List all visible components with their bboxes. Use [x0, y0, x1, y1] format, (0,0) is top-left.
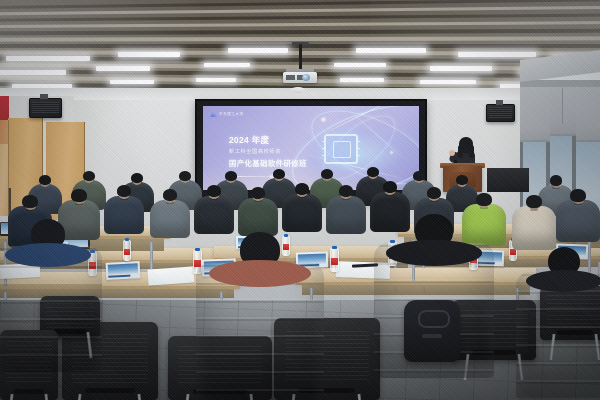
attendee-neck [530, 208, 538, 211]
projector-lens [302, 74, 310, 81]
attendee-jacket [194, 196, 234, 234]
attendee-hair [413, 171, 425, 181]
attendee [150, 190, 190, 238]
attendee-jacket [150, 200, 190, 238]
attendee-hair [22, 195, 37, 208]
attendee-neck [75, 202, 83, 205]
attendee-collar [209, 260, 311, 287]
attendee-hair [339, 185, 353, 197]
av-equipment-cabinet [487, 168, 529, 192]
chair-back-handle [85, 388, 135, 393]
attendee [194, 186, 234, 234]
slide-sparkle-1 [320, 116, 327, 123]
attendee-hair [273, 169, 285, 179]
attendee-jacket [282, 194, 322, 232]
attendee-neck [166, 201, 174, 204]
attendee-jacket [512, 206, 556, 250]
wall-speaker-right [486, 104, 515, 122]
attendee-hair [251, 187, 265, 199]
attendee-hair [476, 193, 491, 206]
attendee-hair [321, 169, 333, 179]
attendee-hair [456, 175, 468, 185]
navy-puffer-attendee [0, 222, 102, 372]
bottle-label [124, 249, 130, 255]
attendee [104, 186, 144, 234]
slide-sparkle-2 [389, 150, 394, 155]
ceiling-light-wash-left [0, 0, 200, 96]
rust-puffer-attendee [196, 236, 324, 400]
bottle-label [331, 258, 338, 265]
attendee [282, 184, 322, 232]
presenter-hair [459, 137, 473, 153]
attendee-hair [39, 175, 51, 185]
attendee-hair [367, 167, 379, 177]
attendee [326, 186, 366, 234]
bottle-cap [125, 238, 129, 241]
attendee-hair [117, 185, 131, 197]
attendee-jacket [104, 196, 144, 234]
attendee-collar [5, 243, 91, 267]
slide-year: 2024 年度 [229, 134, 333, 146]
bottle-cap [332, 246, 336, 249]
ceiling-led [204, 63, 250, 67]
attendee-neck [430, 199, 438, 202]
window-blind-2[interactable] [550, 84, 576, 136]
brochure[interactable] [106, 261, 141, 280]
presenter-hand [449, 150, 455, 156]
slide-logo-text: 华东理工大学 [219, 112, 244, 117]
logo-mark-icon [210, 111, 217, 118]
attendee-hair [383, 181, 397, 193]
attendee [556, 190, 600, 242]
attendee-neck [254, 199, 262, 202]
backpack [404, 300, 460, 362]
slide-logo: 华东理工大学 [210, 111, 244, 118]
attendee-jacket [238, 198, 278, 236]
brochure-title-bar [108, 275, 131, 278]
attendee-neck [298, 195, 306, 198]
speaker-mount-right [496, 100, 503, 105]
attendee-hair [207, 185, 221, 197]
blind-pull-cord[interactable] [562, 88, 563, 124]
attendee-hair [225, 171, 237, 181]
attendee-hair [71, 189, 86, 202]
water-bottle[interactable] [123, 240, 131, 261]
slide-main-title: 国产化基础软件研修班 [229, 158, 333, 169]
brochure-cover-image [108, 264, 138, 275]
attendee [512, 196, 556, 250]
chair-back-handle [14, 389, 44, 394]
attendee [238, 188, 278, 236]
window-blind-1[interactable] [520, 86, 550, 142]
attendee-hair [83, 171, 95, 181]
ceiling-led [228, 48, 288, 53]
attendee-neck [210, 197, 218, 200]
smoke-detector-icon [291, 87, 305, 93]
attendee-hair [295, 183, 309, 195]
ceiling-led [196, 78, 236, 82]
right-dark-attendee [516, 250, 600, 400]
blind-roller [520, 80, 600, 87]
slide-subtitle: 新工科全国高校师资 [229, 148, 333, 155]
attendee-neck [26, 208, 34, 211]
attendee-hair [570, 189, 585, 202]
handout-sheet[interactable] [147, 266, 194, 285]
attendee-hair [179, 171, 191, 181]
attendee-hair [131, 173, 143, 183]
attendee-neck [120, 197, 128, 200]
window-blind-3[interactable] [576, 82, 600, 142]
attendee-collar [526, 270, 600, 292]
attendee-hair [427, 187, 441, 199]
attendee-neck [552, 186, 559, 189]
wall-speaker-left [29, 98, 62, 118]
attendee-neck [342, 197, 350, 200]
speaker-mount-left [40, 94, 48, 99]
ceiling-projector [283, 72, 317, 83]
slide-text-block: 2024 年度 新工科全国高校师资 国产化基础软件研修班 [229, 134, 333, 169]
attendee-neck [574, 202, 582, 205]
attendee-jacket [556, 200, 600, 242]
attendee-neck [480, 206, 488, 209]
lecture-hall-photo: 华东理工大学 2024 年度 新工科全国高校师资 国产化基础软件研修班 [0, 0, 600, 400]
attendee-neck [386, 193, 394, 196]
attendee-jacket [326, 196, 366, 234]
attendee-hair [163, 189, 177, 201]
water-bottle[interactable] [330, 248, 339, 272]
attendee-collar [386, 240, 482, 266]
attendee-hair [526, 195, 541, 208]
attendee-hair [550, 175, 563, 186]
